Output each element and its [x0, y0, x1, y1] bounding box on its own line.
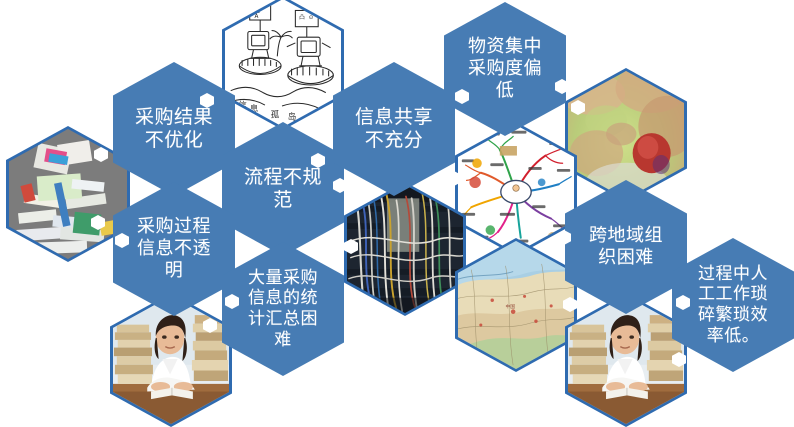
svg-text:⊙: ⊙ [309, 15, 314, 21]
hex-bulk-procurement-statistics-hard[interactable]: 大量采购 信息的统 计汇总困 难 [222, 242, 344, 376]
hex-image-frame [458, 125, 574, 253]
overworked-woman-papers-photo-right [568, 296, 684, 424]
hex-network-cables-photo[interactable] [344, 182, 466, 316]
hex-procurement-result-not-optimized[interactable]: 采购结果 不优化 [113, 62, 235, 196]
svg-text:岛: 岛 [288, 110, 297, 122]
hexagon-infographic: 区 A [0, 0, 794, 420]
hex-image-frame: 中国 [458, 241, 574, 369]
blurred-hands-apple-photo [568, 71, 684, 199]
svg-text:孤: 孤 [271, 108, 280, 120]
hex-image-frame [347, 185, 463, 313]
hex-world-map-photo[interactable]: 中国 [455, 238, 577, 372]
hex-process-not-standardized[interactable]: 流程不规 范 [222, 122, 344, 256]
svg-text:凸: 凸 [299, 14, 305, 21]
hex-cross-region-organization-hard[interactable]: 跨地域组 织困难 [565, 180, 687, 314]
hex-label: 过程中人 工工作琐 碎繁琐效 率低。 [688, 264, 778, 347]
hex-label: 物资集中 采购度偏 低 [458, 36, 552, 102]
hex-image-frame [568, 71, 684, 199]
mind-map-diagram [458, 125, 574, 253]
hex-centralized-purchasing-low[interactable]: 物资集中 采购度偏 低 [444, 2, 566, 136]
network-cables-photo [347, 185, 463, 313]
hex-information-island-cartoon[interactable]: 区 A [222, 0, 344, 130]
hex-label: 采购结果 不优化 [125, 106, 223, 152]
overworked-woman-papers-photo-left [113, 296, 229, 424]
hex-procurement-process-opaque[interactable]: 采购过程 信息不透 明 [113, 182, 235, 316]
hex-image-frame [568, 296, 684, 424]
hex-manual-work-tedious-low-efficiency[interactable]: 过程中人 工工作琐 碎繁琐效 率低。 [672, 238, 794, 372]
svg-text:A: A [254, 14, 258, 20]
hex-label: 流程不规 范 [234, 166, 332, 212]
svg-text:息: 息 [250, 103, 259, 115]
hex-label: 跨地域组 织困难 [579, 225, 673, 269]
hex-pile-of-documents-photo[interactable] [6, 126, 130, 262]
world-map-photo: 中国 [458, 241, 574, 369]
information-island-cartoon: 区 A [225, 0, 341, 127]
hex-label: 采购过程 信息不透 明 [127, 216, 221, 282]
hex-label: 大量采购 信息的统 计汇总困 难 [238, 268, 328, 351]
svg-text:信: 信 [238, 99, 247, 111]
hex-image-frame [113, 296, 229, 424]
hex-image-frame [9, 129, 127, 259]
pile-of-documents-photo [9, 129, 127, 259]
hex-label: 信息共享 不充分 [345, 106, 443, 152]
hex-image-frame: 区 A [225, 0, 341, 127]
hex-information-sharing-insufficient[interactable]: 信息共享 不充分 [333, 62, 455, 196]
